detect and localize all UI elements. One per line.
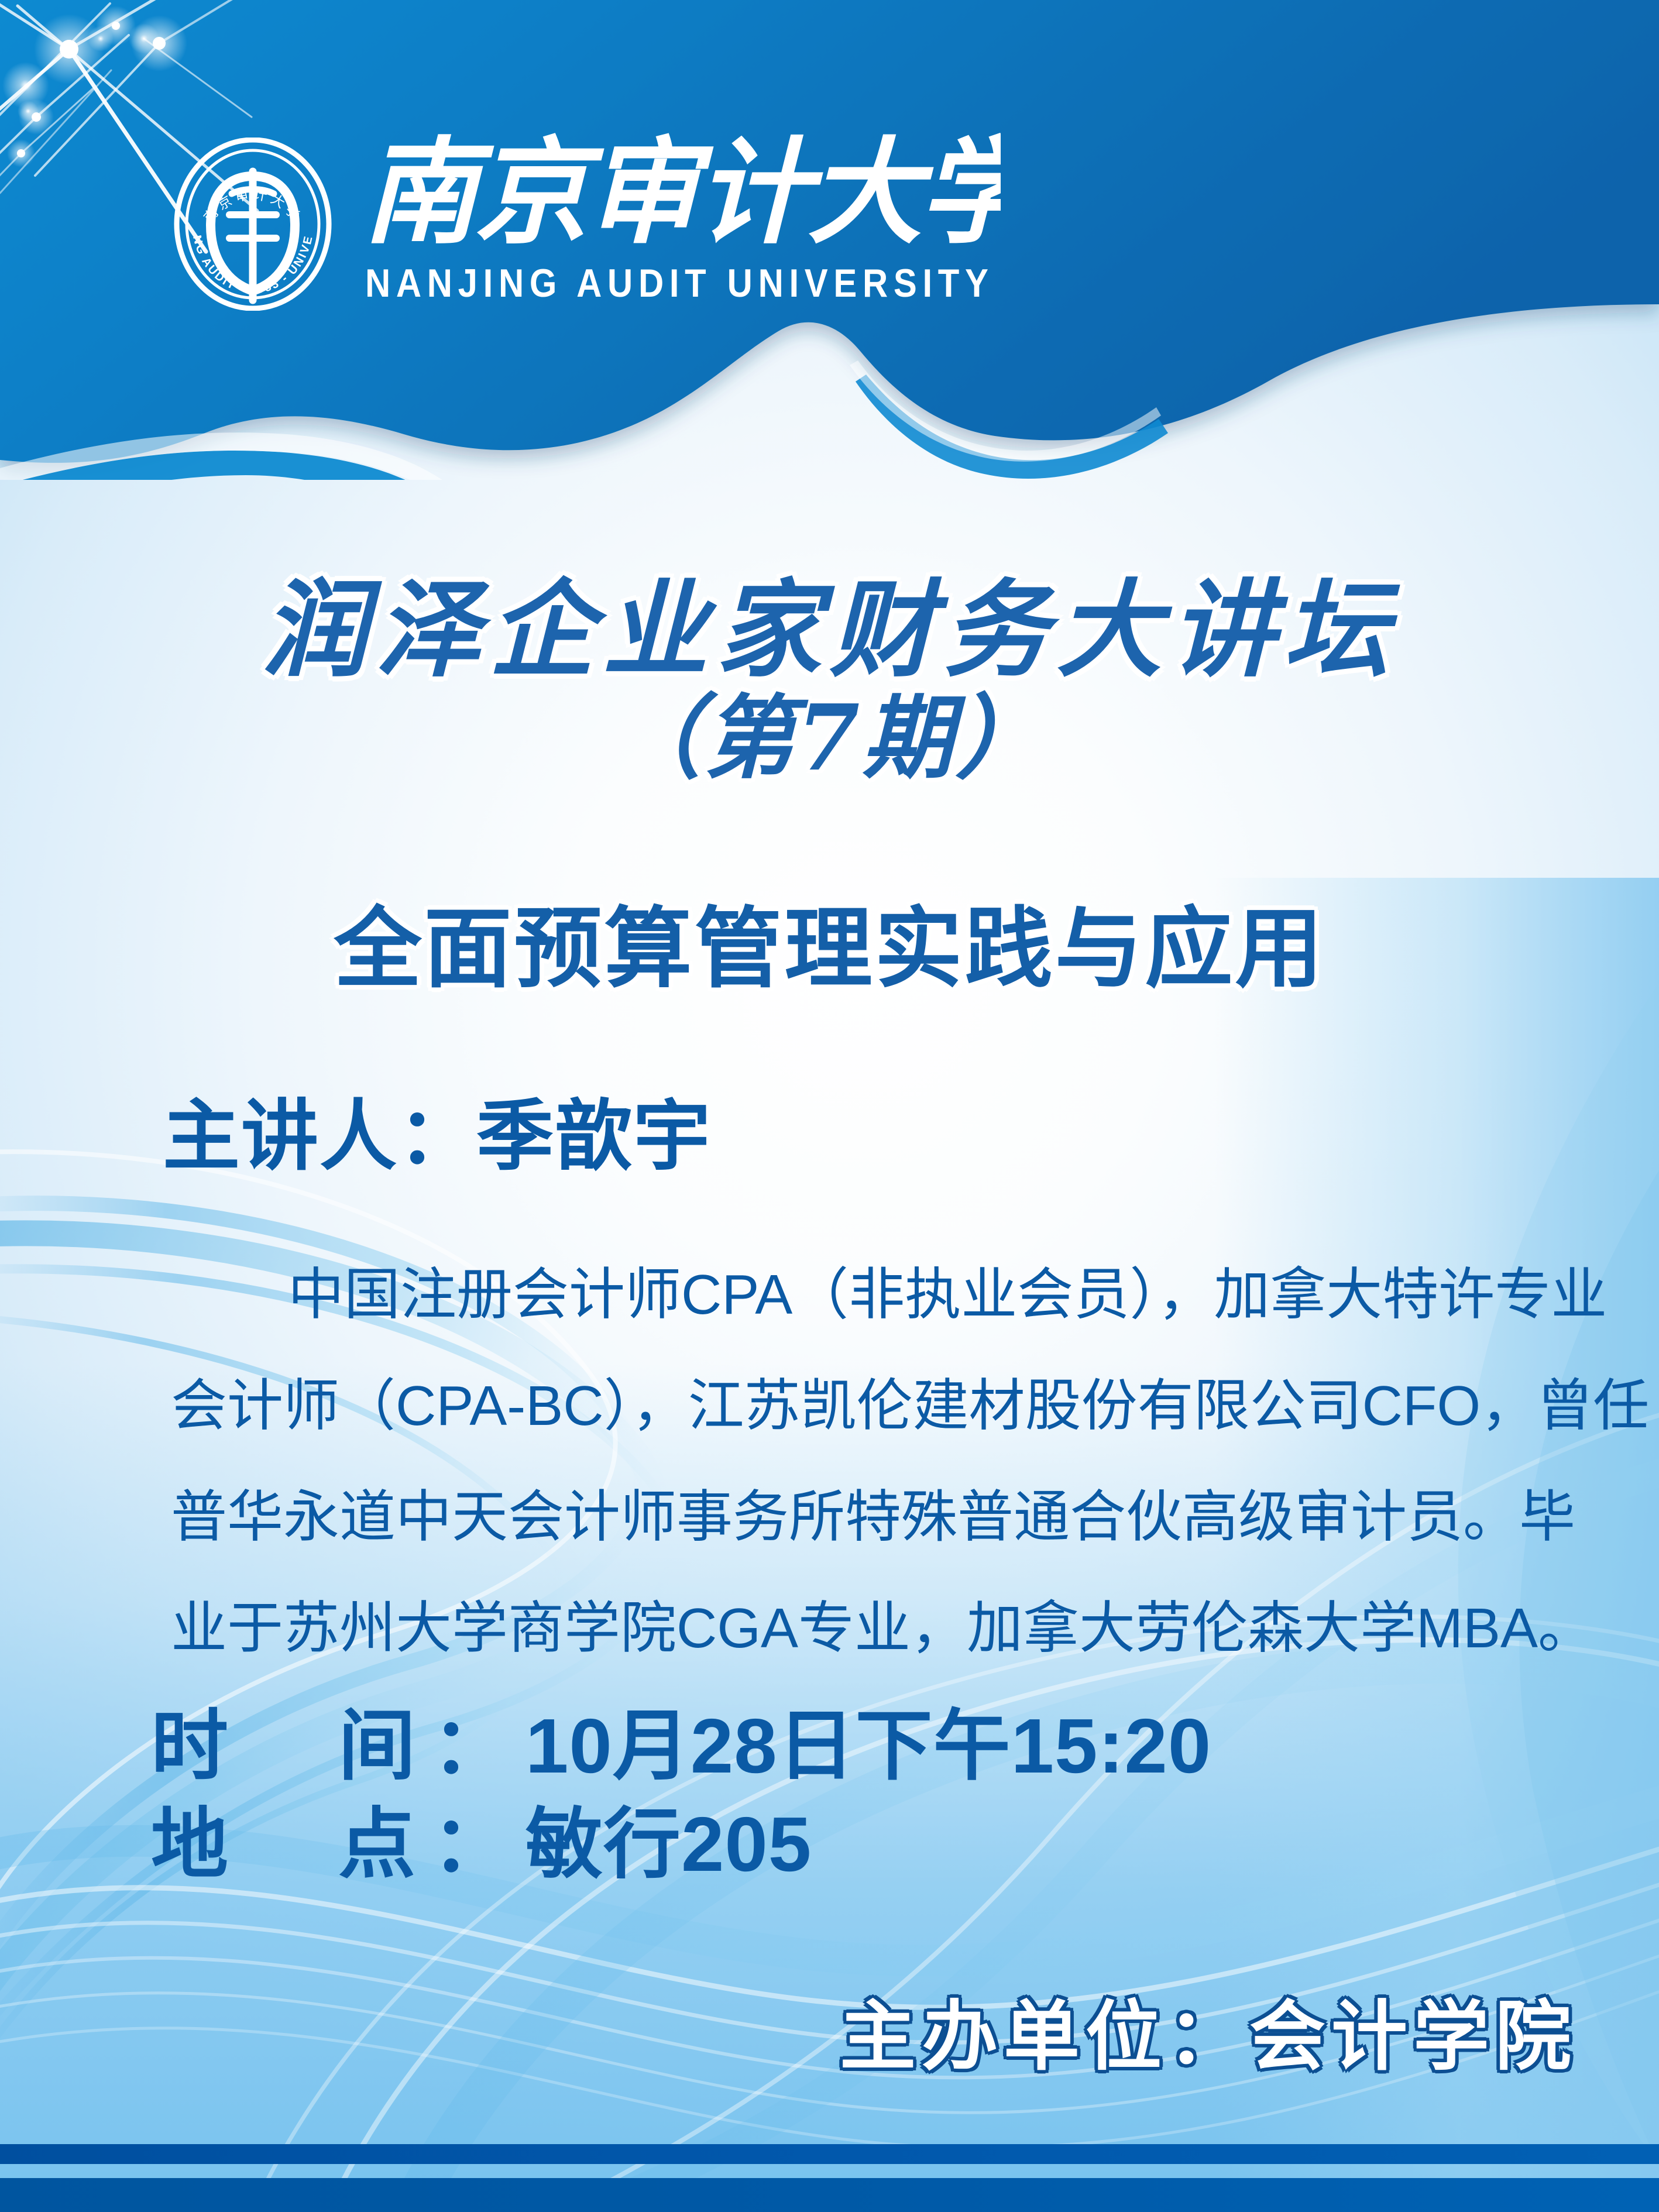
organizer-line: 主办单位：会计学院 — [0, 1975, 1659, 2085]
event-place-label: 地 点： — [151, 1801, 525, 1887]
speaker-bio: 中国注册会计师CPA（非执业会员），加拿大特许专业 会计师（CPA-BC），江苏… — [171, 1239, 1517, 1684]
event-place-row: 地 点：敏行205 — [151, 1795, 1211, 1894]
event-time-value: 10月28日下午15:20 — [525, 1703, 1211, 1789]
event-time-row: 时 间：10月28日下午15:20 — [151, 1697, 1211, 1795]
bio-line-1: 中国注册会计师CPA（非执业会员），加拿大特许专业 — [171, 1239, 1517, 1351]
speaker-line: 主讲人：季歆宇 — [163, 1074, 712, 1186]
event-meta: 时 间：10月28日下午15:20 地 点：敏行205 — [151, 1697, 1211, 1894]
forum-issue-number: （第7期） — [0, 664, 1659, 796]
event-time-label: 时 间： — [151, 1703, 525, 1789]
poster-content: 润泽企业家财务大讲坛 （第7期） 全面预算管理实践与应用 主讲人：季歆宇 中国注… — [0, 0, 1659, 2212]
lecture-title: 全面预算管理实践与应用 — [0, 878, 1659, 1005]
poster-root: 南京审计大学 NANJING AUDIT - 1983 - UNIVERSITY… — [0, 0, 1659, 2212]
event-place-value: 敏行205 — [525, 1801, 812, 1887]
bio-line-3: 普华永道中天会计师事务所特殊普通合伙高级审计员。毕 — [171, 1462, 1517, 1573]
footer-bar — [0, 2178, 1659, 2212]
bio-line-2: 会计师（CPA-BC），江苏凯伦建材股份有限公司CFO，曾任 — [171, 1351, 1517, 1462]
bio-line-4: 业于苏州大学商学院CGA专业，加拿大劳伦森大学MBA。 — [171, 1573, 1517, 1684]
footer-accent-bar — [0, 2144, 1659, 2164]
